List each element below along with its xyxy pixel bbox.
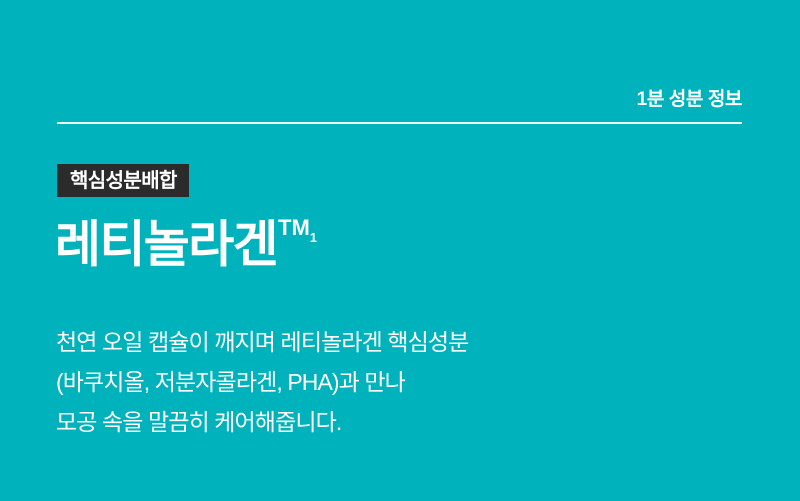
key-ingredient-badge: 핵심성분배합 xyxy=(57,164,189,197)
description-line: 천연 오일 캡슐이 깨지며 레티놀라겐 핵심성분 xyxy=(56,322,468,362)
page-title-text: 레티놀라겐 xyxy=(55,217,277,273)
trademark-mark: TM xyxy=(278,215,310,240)
kicker-divider xyxy=(57,122,742,124)
page-title: 레티놀라겐TM1 xyxy=(55,206,314,289)
kicker-row: 1분 성분 정보 xyxy=(57,88,742,122)
kicker-label: 1분 성분 정보 xyxy=(57,88,742,112)
footnote-reference-mark: 1 xyxy=(310,230,316,245)
description-line: 모공 속을 말끔히 케어해줍니다. xyxy=(56,402,468,442)
key-ingredient-badge-label: 핵심성분배합 xyxy=(70,171,177,191)
description-block: 천연 오일 캡슐이 깨지며 레티놀라겐 핵심성분 (바쿠치올, 저분자콜라겐, … xyxy=(56,322,468,442)
description-line: (바쿠치올, 저분자콜라겐, PHA)과 만나 xyxy=(56,362,468,402)
ingredient-info-promo-card: 1분 성분 정보 핵심성분배합 레티놀라겐TM1 천연 오일 캡슐이 깨지며 레… xyxy=(0,0,800,501)
